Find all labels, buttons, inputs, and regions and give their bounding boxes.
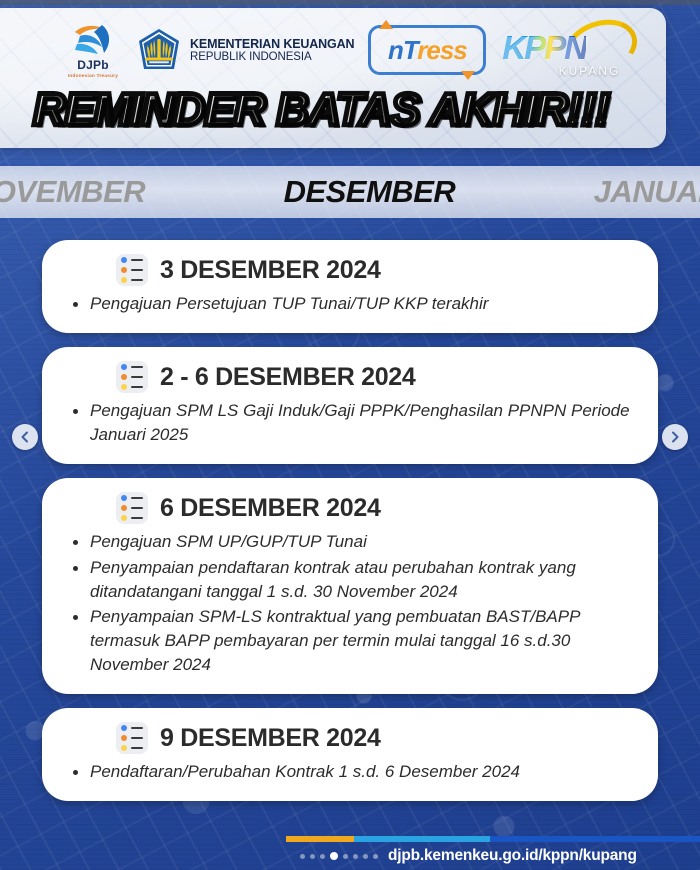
card-list-item: Pengajuan SPM UP/GUP/TUP Tunai [68, 530, 632, 554]
list-icon-line [131, 386, 143, 388]
list-icon-row [121, 515, 143, 521]
pagination-dot[interactable] [310, 854, 315, 859]
kemenkeu-line1: KEMENTERIAN KEUANGAN [190, 37, 354, 51]
intress-logo-text: nTress [388, 35, 467, 66]
card-list-item: Pengajuan SPM LS Gaji Induk/Gaji PPPK/Pe… [68, 399, 632, 447]
footer-bar-segment-lightblue [354, 836, 490, 842]
card-list-item: Pendaftaran/Perubahan Kontrak 1 s.d. 6 D… [68, 760, 632, 784]
card-date: 2 - 6 DESEMBER 2024 [160, 363, 416, 392]
djpb-logo-icon [72, 23, 114, 57]
pagination-dots[interactable] [300, 852, 378, 860]
pagination-dot[interactable] [330, 852, 338, 860]
list-icon [116, 722, 148, 754]
kemenkeu-logo: KEMENTERIAN KEUANGAN REPUBLIK INDONESIA [136, 27, 354, 73]
card-item-list: Pengajuan SPM UP/GUP/TUP TunaiPenyampaia… [68, 530, 632, 677]
footer-color-bar [286, 836, 700, 842]
month-navigation[interactable]: NOVEMBER DESEMBER JANUARI [0, 166, 700, 218]
intress-arrow-top-icon [379, 20, 393, 29]
month-previous[interactable]: NOVEMBER [0, 174, 145, 210]
list-icon-dot [121, 745, 127, 751]
list-icon-row [121, 725, 143, 731]
list-icon-line [131, 737, 143, 739]
footer-row: djpb.kemenkeu.go.id/kppn/kupang [300, 844, 678, 868]
intress-arrow-bottom-icon [461, 71, 475, 80]
pagination-dot[interactable] [353, 854, 358, 859]
list-icon [116, 254, 148, 286]
card-header: 3 DESEMBER 2024 [68, 254, 632, 286]
pagination-dot[interactable] [373, 854, 378, 859]
list-icon-line [131, 517, 143, 519]
card-header: 9 DESEMBER 2024 [68, 722, 632, 754]
kppn-logo-text: KPPN [502, 29, 586, 67]
top-edge-strip [0, 0, 700, 5]
card-header: 2 - 6 DESEMBER 2024 [68, 361, 632, 393]
pagination-dot[interactable] [363, 854, 368, 859]
card-date: 6 DESEMBER 2024 [160, 494, 381, 523]
djpb-logo: DJPb Indonesian Treasury [64, 23, 122, 78]
chevron-right-icon[interactable] [662, 424, 688, 450]
month-next[interactable]: JANUARI [594, 174, 700, 210]
card-date: 3 DESEMBER 2024 [160, 256, 381, 285]
list-icon-dot [121, 515, 127, 521]
list-icon-dot [121, 277, 127, 283]
list-icon-row [121, 745, 143, 751]
reminder-card: 3 DESEMBER 2024Pengajuan Persetujuan TUP… [42, 240, 658, 333]
list-icon-dot [121, 735, 127, 741]
list-icon-line [131, 366, 143, 368]
card-date: 9 DESEMBER 2024 [160, 724, 381, 753]
list-icon-dot [121, 364, 127, 370]
kemenkeu-logo-text: KEMENTERIAN KEUANGAN REPUBLIK INDONESIA [190, 37, 354, 64]
list-icon [116, 492, 148, 524]
header-banner: DJPb Indonesian Treasury [0, 8, 666, 148]
list-icon-line [131, 507, 143, 509]
list-icon-line [131, 497, 143, 499]
list-icon-row [121, 505, 143, 511]
list-icon-line [131, 269, 143, 271]
list-icon-dot [121, 257, 127, 263]
list-icon-dot [121, 374, 127, 380]
pagination-dot[interactable] [300, 854, 305, 859]
list-icon-dot [121, 505, 127, 511]
list-icon-row [121, 384, 143, 390]
list-icon-row [121, 257, 143, 263]
list-icon-dot [121, 267, 127, 273]
chevron-left-icon[interactable] [12, 424, 38, 450]
list-icon-line [131, 727, 143, 729]
djpb-logo-tagline: Indonesian Treasury [68, 73, 118, 78]
list-icon-row [121, 495, 143, 501]
month-current[interactable]: DESEMBER [284, 174, 456, 210]
kemenkeu-line2: REPUBLIK INDONESIA [190, 51, 354, 64]
pagination-dot[interactable] [343, 854, 348, 859]
list-icon [116, 361, 148, 393]
pagination-dot[interactable] [320, 854, 325, 859]
card-item-list: Pendaftaran/Perubahan Kontrak 1 s.d. 6 D… [68, 760, 632, 784]
card-header: 6 DESEMBER 2024 [68, 492, 632, 524]
list-icon-line [131, 259, 143, 261]
reminder-card: 2 - 6 DESEMBER 2024Pengajuan SPM LS Gaji… [42, 347, 658, 464]
djpb-logo-name: DJPb [77, 59, 108, 71]
list-icon-line [131, 376, 143, 378]
intress-text-blue: nT [388, 35, 417, 65]
page-title: REMINDER BATAS AKHIR!!! [0, 84, 666, 136]
footer-url: djpb.kemenkeu.go.id/kppn/kupang [388, 847, 637, 865]
list-icon-row [121, 267, 143, 273]
card-item-list: Pengajuan Persetujuan TUP Tunai/TUP KKP … [68, 292, 632, 316]
list-icon-line [131, 747, 143, 749]
list-icon-row [121, 364, 143, 370]
footer-bar-segment-yellow [286, 836, 354, 842]
list-icon-row [121, 374, 143, 380]
list-icon-row [121, 735, 143, 741]
poster-page: DJPb Indonesian Treasury [0, 0, 700, 870]
card-list-item: Penyampaian SPM-LS kontraktual yang pemb… [68, 605, 632, 677]
card-item-list: Pengajuan SPM LS Gaji Induk/Gaji PPPK/Pe… [68, 399, 632, 447]
list-icon-line [131, 279, 143, 281]
kemenkeu-emblem-icon [136, 27, 182, 73]
card-list-item: Penyampaian pendaftaran kontrak atau per… [68, 556, 632, 604]
reminder-card-list: 3 DESEMBER 2024Pengajuan Persetujuan TUP… [42, 240, 658, 815]
reminder-card: 9 DESEMBER 2024Pendaftaran/Perubahan Kon… [42, 708, 658, 801]
card-list-item: Pengajuan Persetujuan TUP Tunai/TUP KKP … [68, 292, 632, 316]
list-icon-row [121, 277, 143, 283]
intress-logo-icon: nTress [368, 25, 486, 75]
kppn-logo-icon: KPPN KUPANG [500, 23, 636, 77]
footer-bar-segment-blue [490, 836, 700, 842]
reminder-card: 6 DESEMBER 2024Pengajuan SPM UP/GUP/TUP … [42, 478, 658, 694]
list-icon-dot [121, 725, 127, 731]
kppn-logo-sub: KUPANG [559, 64, 621, 78]
logo-row: DJPb Indonesian Treasury [64, 20, 636, 80]
list-icon-dot [121, 384, 127, 390]
list-icon-dot [121, 495, 127, 501]
